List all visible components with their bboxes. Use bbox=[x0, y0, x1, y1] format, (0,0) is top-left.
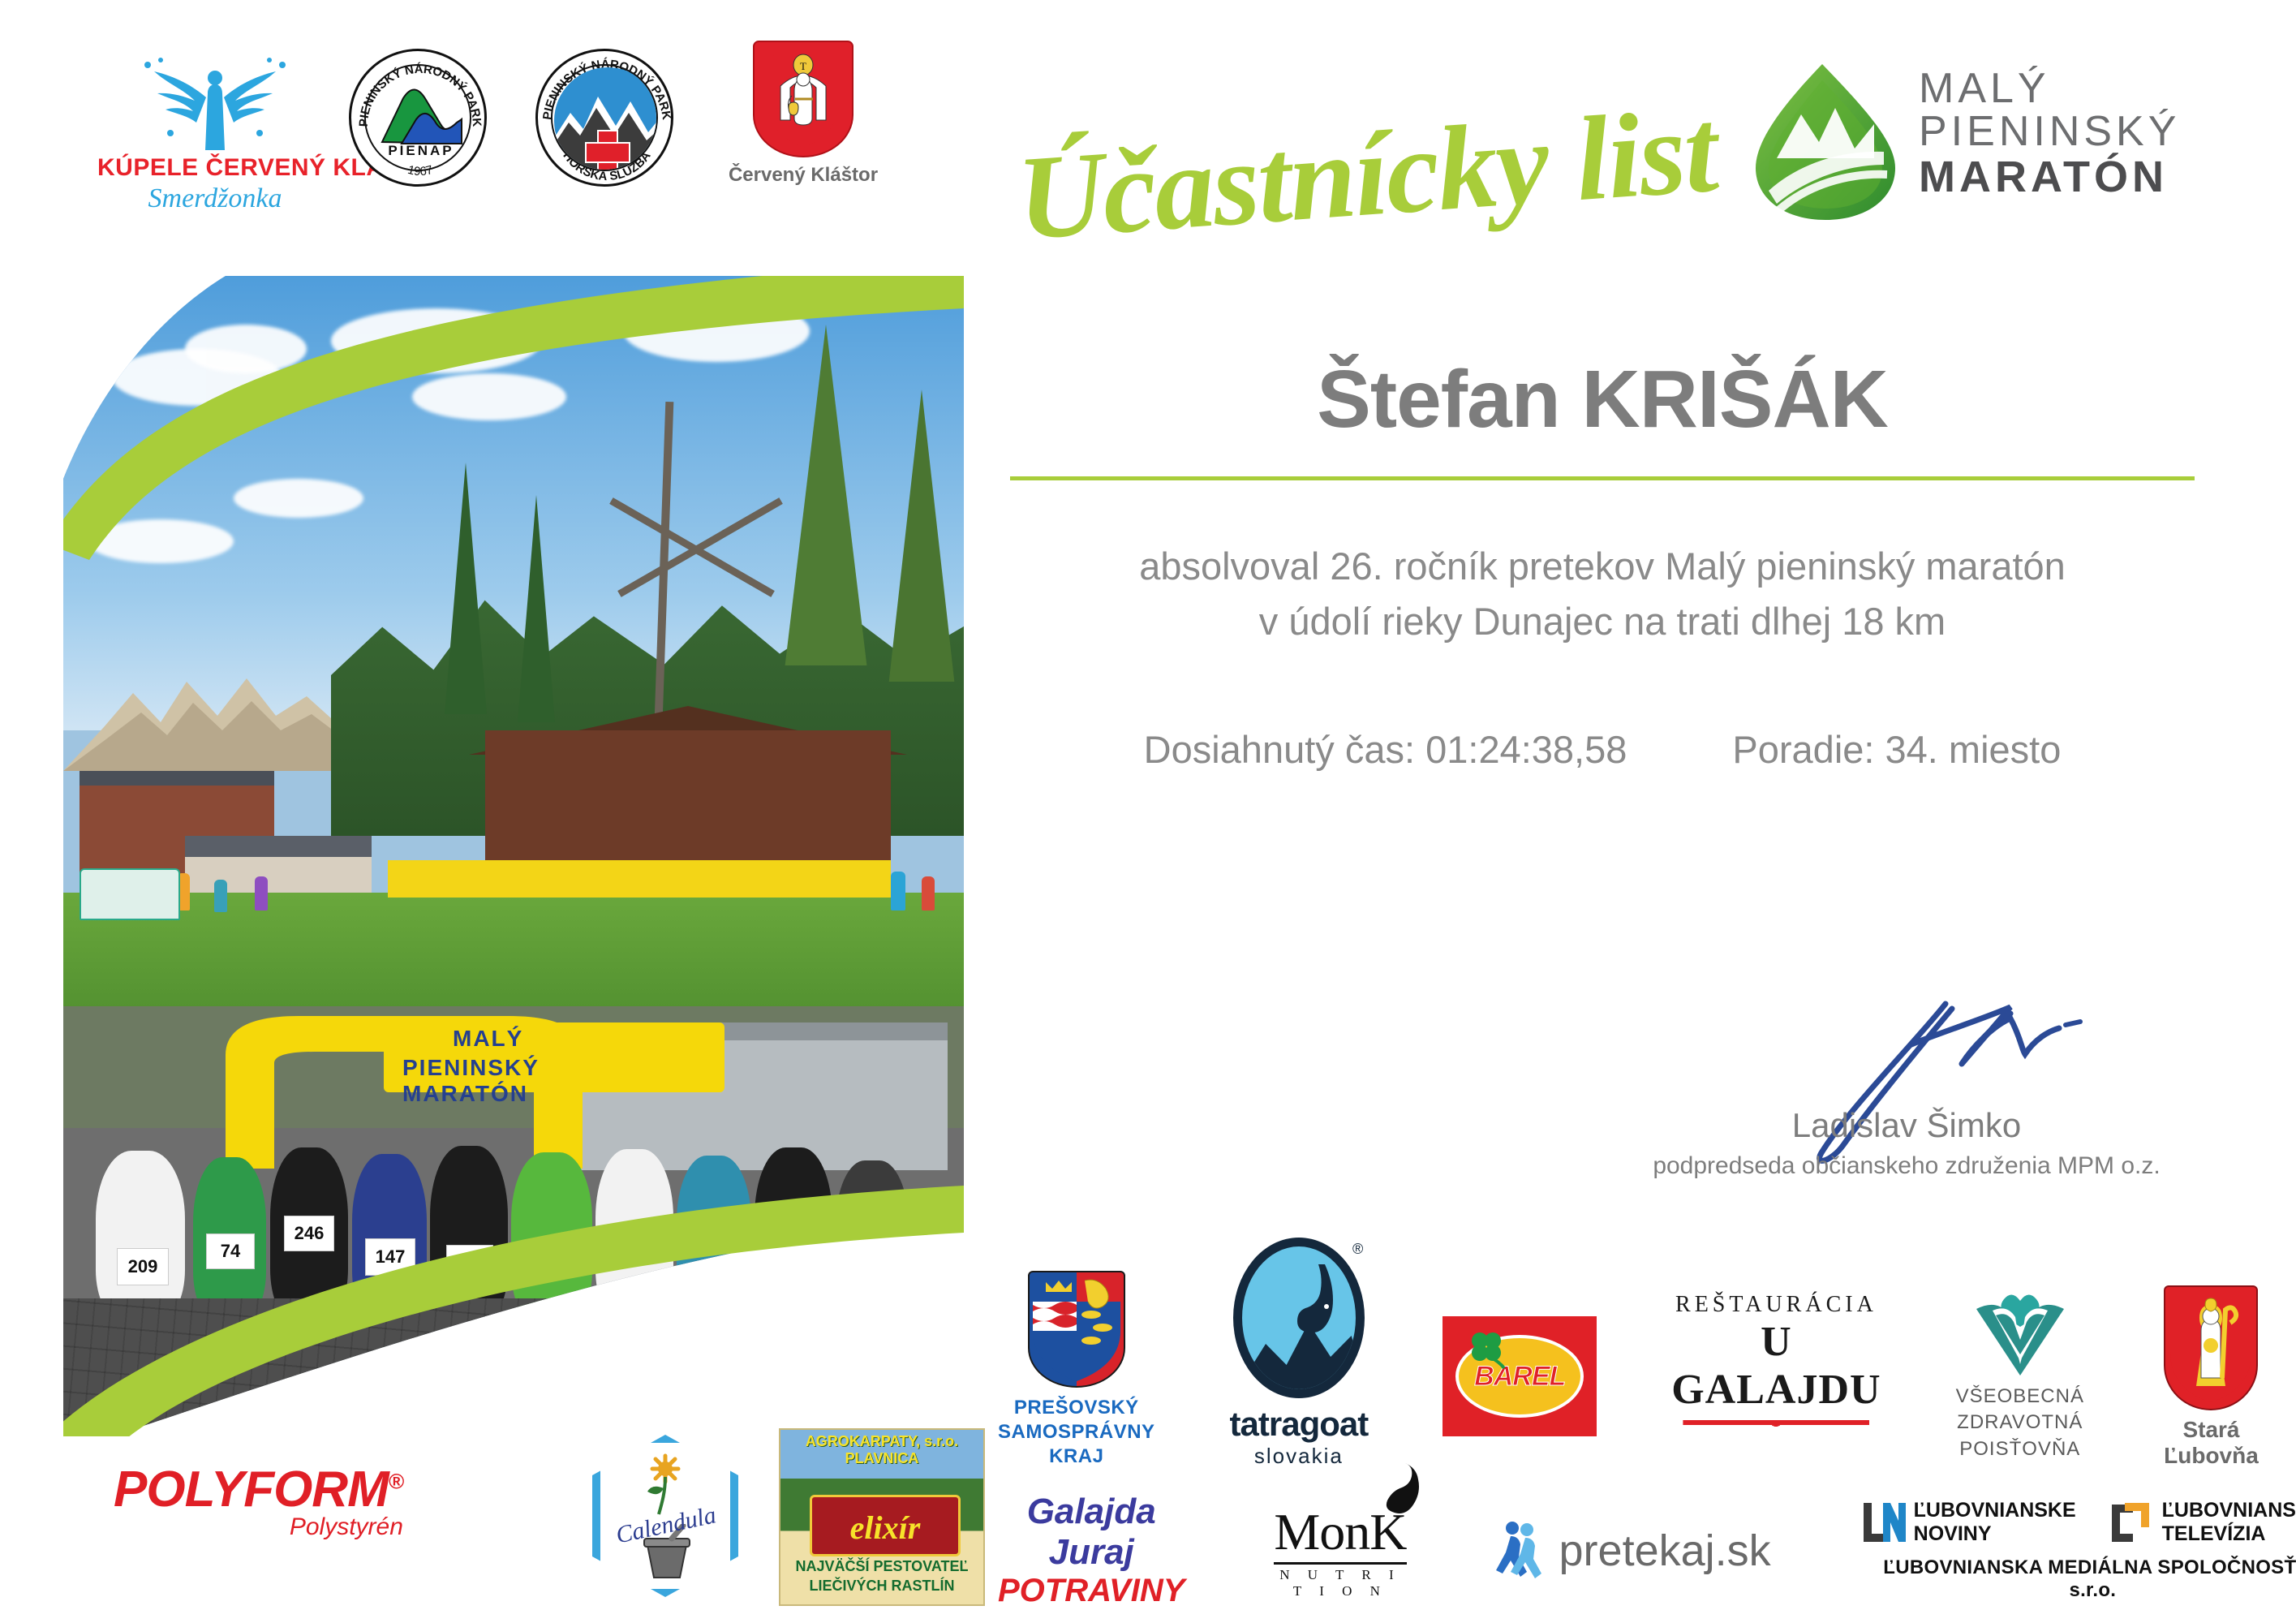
water-wings-icon bbox=[97, 49, 333, 154]
event-photo-montage: MALÝ PIENINSKÝ MARATÓN 209 74 bbox=[63, 276, 964, 1436]
cobblestone-path bbox=[63, 1298, 964, 1436]
ln-monogram-icon bbox=[1860, 1501, 1906, 1543]
psk-coat-of-arms bbox=[1028, 1271, 1125, 1388]
sponsor-tatragoat: ® tatragoat slovakia bbox=[1230, 1238, 1369, 1469]
running-figures-icon bbox=[1496, 1518, 1550, 1583]
tatragoat-emblem bbox=[1233, 1238, 1365, 1398]
runner bbox=[836, 1160, 909, 1321]
lt-line2: TELEVÍZIA bbox=[2162, 1522, 2296, 1546]
horska-sluzba-seal: PIENINSKÝ NÁRODNÝ PARK HORSKÁ SLUŽBA bbox=[535, 49, 673, 187]
spectator bbox=[214, 880, 227, 912]
spectator bbox=[922, 876, 935, 911]
signatory-name: Ladislav Šimko bbox=[1606, 1106, 2207, 1145]
runner bbox=[755, 1147, 832, 1321]
sponsor-strip-left: POLYFORM® Polystyrén Calendula AGROKARPA… bbox=[97, 1428, 990, 1591]
vzp-icon bbox=[1971, 1289, 2069, 1375]
galajda-line1: Galajda Juraj bbox=[998, 1492, 1185, 1573]
runner bbox=[96, 1151, 185, 1321]
finish-time-label: Dosiahnutý čas: bbox=[1144, 728, 1415, 771]
stara-lubovna-coat-of-arms bbox=[2164, 1285, 2258, 1410]
clover-icon bbox=[1465, 1328, 1507, 1370]
monk-figure-icon bbox=[1378, 1460, 1431, 1513]
vzp-line2: ZDRAVOTNÁ bbox=[1956, 1410, 2084, 1436]
u-galajdu-line1: REŠTAURÁCIA bbox=[1671, 1292, 1881, 1318]
photo-clip-region: MALÝ PIENINSKÝ MARATÓN 209 74 bbox=[63, 276, 964, 1436]
vzp-line1: VŠEOBECNÁ bbox=[1956, 1384, 2084, 1410]
bib-number: 147 bbox=[365, 1238, 415, 1276]
sponsor-lubovnianska-medialna: ĽUBOVNIANSKE NOVINY ĽUBOVNIANSKA TELEVÍZ… bbox=[1860, 1499, 2296, 1603]
sponsor-pretekaj: pretekaj.sk bbox=[1496, 1518, 1771, 1583]
sponsor-barel: BAREL bbox=[1443, 1316, 1597, 1469]
monk-sub: N U T R I T I O N bbox=[1274, 1562, 1406, 1599]
agrokarpaty-header: AGROKARPATY, s.r.o. PLAVNICA bbox=[780, 1433, 983, 1467]
ln-line2: NOVINY bbox=[1914, 1522, 2076, 1546]
partner-logo-strip: KÚPELE ČERVENÝ KLÁŠTOR Smerdžonka PIENIN… bbox=[81, 41, 957, 243]
svg-text:PIENAP: PIENAP bbox=[388, 143, 454, 158]
recipient-name: Štefan KRIŠÁK bbox=[1002, 357, 2203, 442]
registered-mark: ® bbox=[389, 1469, 403, 1493]
leaf-mountain-icon bbox=[1744, 61, 1907, 223]
cloud bbox=[412, 373, 566, 420]
race-start-photo: MALÝ PIENINSKÝ MARATÓN 209 74 bbox=[63, 1006, 964, 1436]
cloud bbox=[331, 308, 542, 373]
result-stats: Dosiahnutý čas: 01:24:38,58 Poradie: 34.… bbox=[1002, 727, 2203, 772]
elixir-wordmark: elixír bbox=[812, 1509, 958, 1547]
spectator bbox=[891, 872, 905, 911]
page-title: Účastnícky list bbox=[1013, 88, 1752, 293]
cloud bbox=[185, 325, 307, 373]
description-line-2: v údolí rieky Dunajec na trati dlhej 18 … bbox=[1002, 594, 2203, 649]
rank-value: 34. miesto bbox=[1885, 728, 2062, 771]
arch-text-line2: PIENINSKÝ MARATÓN bbox=[402, 1055, 599, 1107]
partner-logo-kupele-cerveny-klastor: KÚPELE ČERVENÝ KLÁŠTOR Smerdžonka bbox=[97, 49, 333, 214]
stara-lubovna-label: Stará Ľubovňa bbox=[2159, 1417, 2264, 1469]
runner bbox=[430, 1146, 508, 1321]
polyform-wordmark: POLYFORM® bbox=[114, 1461, 403, 1518]
certificate-body: Štefan KRIŠÁK absolvoval 26. ročník pret… bbox=[1002, 357, 2203, 772]
brand-line-2: PIENINSKÝ bbox=[1919, 110, 2180, 153]
runner bbox=[352, 1154, 427, 1321]
elixir-badge: elixír bbox=[810, 1495, 961, 1556]
vendor-tent bbox=[80, 868, 180, 920]
psk-line3: KRAJ bbox=[998, 1444, 1155, 1469]
finish-time: Dosiahnutý čas: 01:24:38,58 bbox=[1144, 727, 1627, 772]
psk-line1: PREŠOVSKÝ bbox=[998, 1396, 1155, 1420]
tatragoat-wordmark: tatragoat bbox=[1230, 1405, 1369, 1444]
description-line-1: absolvoval 26. ročník pretekov Malý pien… bbox=[1002, 539, 2203, 594]
bib-number: 246 bbox=[284, 1216, 334, 1251]
sponsor-monk-nutrition: MonK N U T R I T I O N bbox=[1274, 1502, 1406, 1599]
cerveny-klastor-coat-of-arms: T bbox=[753, 41, 853, 157]
rank: Poradie: 34. miesto bbox=[1732, 727, 2061, 772]
pienap-seal: PIENINSKÝ NÁRODNÝ PARK 1967 PIENAP bbox=[349, 49, 487, 187]
galajda-line2: POTRAVINY bbox=[998, 1573, 1185, 1609]
media-outlets: ĽUBOVNIANSKE NOVINY ĽUBOVNIANSKA TELEVÍZ… bbox=[1860, 1499, 2296, 1546]
ln-line1: ĽUBOVNIANSKE bbox=[1914, 1499, 2076, 1522]
agrokarpaty-sub2: LIEČIVÝCH RASTLÍN bbox=[780, 1578, 983, 1595]
registered-mark: ® bbox=[1352, 1241, 1363, 1258]
folk-ornament bbox=[1683, 1420, 1869, 1466]
bib-number: 209 bbox=[117, 1248, 169, 1285]
lt-text: ĽUBOVNIANSKA TELEVÍZIA bbox=[2162, 1499, 2296, 1546]
spectator bbox=[255, 876, 268, 911]
bib-number: 234 bbox=[763, 1238, 815, 1276]
sponsor-vzp: VŠEOBECNÁ ZDRAVOTNÁ POISŤOVŇA bbox=[1956, 1289, 2084, 1469]
outlet-lubovnianska-televizia: ĽUBOVNIANSKA TELEVÍZIA bbox=[2109, 1499, 2296, 1546]
kupele-line2: Smerdžonka bbox=[97, 183, 333, 214]
chamois-goat-icon bbox=[1294, 1264, 1343, 1339]
cerveny-klastor-label: Červený Kláštor bbox=[722, 164, 884, 187]
bib-number: 74 bbox=[206, 1233, 255, 1269]
sponsor-polyform: POLYFORM® Polystyrén bbox=[114, 1461, 403, 1541]
brand-line-3: MARATÓN bbox=[1919, 153, 2180, 200]
arch-text-line1: MALÝ bbox=[453, 1026, 523, 1052]
sponsor-calendula: Calendula bbox=[592, 1435, 738, 1597]
brand-wordmark: MALÝ PIENINSKÝ MARATÓN bbox=[1919, 67, 2180, 200]
sponsor-agrokarpaty: AGROKARPATY, s.r.o. PLAVNICA elixír NAJV… bbox=[779, 1428, 985, 1606]
runner bbox=[511, 1152, 592, 1321]
tatragoat-sub: slovakia bbox=[1230, 1444, 1369, 1469]
cloud bbox=[234, 479, 363, 518]
partner-logo-horska-sluzba: PIENINSKÝ NÁRODNÝ PARK HORSKÁ SLUŽBA bbox=[535, 49, 698, 187]
partner-logo-pienap: PIENINSKÝ NÁRODNÝ PARK 1967 PIENAP bbox=[349, 49, 511, 187]
bib-number: 31 bbox=[446, 1245, 493, 1281]
lt-line1: ĽUBOVNIANSKA bbox=[2162, 1499, 2296, 1522]
lt-monogram-icon bbox=[2109, 1501, 2154, 1543]
psk-line2: SAMOSPRÁVNY bbox=[998, 1420, 1155, 1444]
certificate-description: absolvoval 26. ročník pretekov Malý pien… bbox=[1002, 539, 2203, 649]
sponsor-u-galajdu: REŠTAURÁCIA U GALAJDU bbox=[1671, 1292, 1881, 1469]
outlet-lubovnianske-noviny: ĽUBOVNIANSKE NOVINY bbox=[1860, 1499, 2076, 1546]
runner bbox=[677, 1156, 751, 1321]
agrokarpaty-sub1: NAJVÄČŠÍ PESTOVATEĽ bbox=[780, 1558, 983, 1575]
event-brand-logo: MALÝ PIENINSKÝ MARATÓN bbox=[1744, 61, 2247, 223]
certificate-page: KÚPELE ČERVENÝ KLÁŠTOR Smerdžonka PIENIN… bbox=[0, 0, 2296, 1623]
u-galajdu-line2: U GALAJDU bbox=[1671, 1318, 1881, 1414]
finish-time-value: 01:24:38,58 bbox=[1425, 728, 1627, 771]
svg-text:T: T bbox=[800, 60, 806, 72]
sponsor-presovsky-samospravny-kraj: PREŠOVSKÝ SAMOSPRÁVNY KRAJ bbox=[998, 1271, 1155, 1469]
polyform-name: POLYFORM bbox=[114, 1462, 389, 1518]
signature-block: Ladislav Šimko podpredseda občianskeho z… bbox=[1606, 986, 2207, 1205]
pienap-emblem: PIENAP bbox=[364, 64, 471, 171]
horska-sluzba-emblem bbox=[551, 64, 658, 171]
sponsor-stara-lubovna: Stará Ľubovňa bbox=[2159, 1285, 2264, 1469]
kupele-line1: KÚPELE ČERVENÝ KLÁŠTOR bbox=[97, 154, 333, 182]
sponsor-galajda-juraj: Galajda Juraj POTRAVINY bbox=[998, 1492, 1185, 1609]
cloud bbox=[623, 300, 810, 362]
accent-divider bbox=[1010, 476, 2195, 480]
cloud bbox=[88, 519, 234, 563]
sponsor-row-primary: PREŠOVSKÝ SAMOSPRÁVNY KRAJ ® tatragoat s… bbox=[998, 1238, 2264, 1469]
runner bbox=[595, 1149, 673, 1321]
media-company-name: ĽUBOVNIANSKA MEDIÁLNA SPOLOČNOSŤ, s.r.o. bbox=[1860, 1556, 2296, 1602]
signatory-role: podpredseda občianskeho združenia MPM o.… bbox=[1606, 1152, 2207, 1180]
partner-logo-cerveny-klastor: T Červený Kláštor bbox=[722, 41, 884, 187]
ln-text: ĽUBOVNIANSKE NOVINY bbox=[1914, 1499, 2076, 1546]
vzp-line3: POISŤOVŇA bbox=[1956, 1436, 2084, 1462]
pretekaj-wordmark: pretekaj.sk bbox=[1559, 1526, 1771, 1576]
brand-line-1: MALÝ bbox=[1919, 67, 2180, 110]
rank-label: Poradie: bbox=[1732, 728, 1874, 771]
yellow-seating bbox=[388, 860, 891, 898]
sponsor-row-secondary: Galajda Juraj POTRAVINY MonK N U T R I T… bbox=[998, 1492, 2272, 1609]
